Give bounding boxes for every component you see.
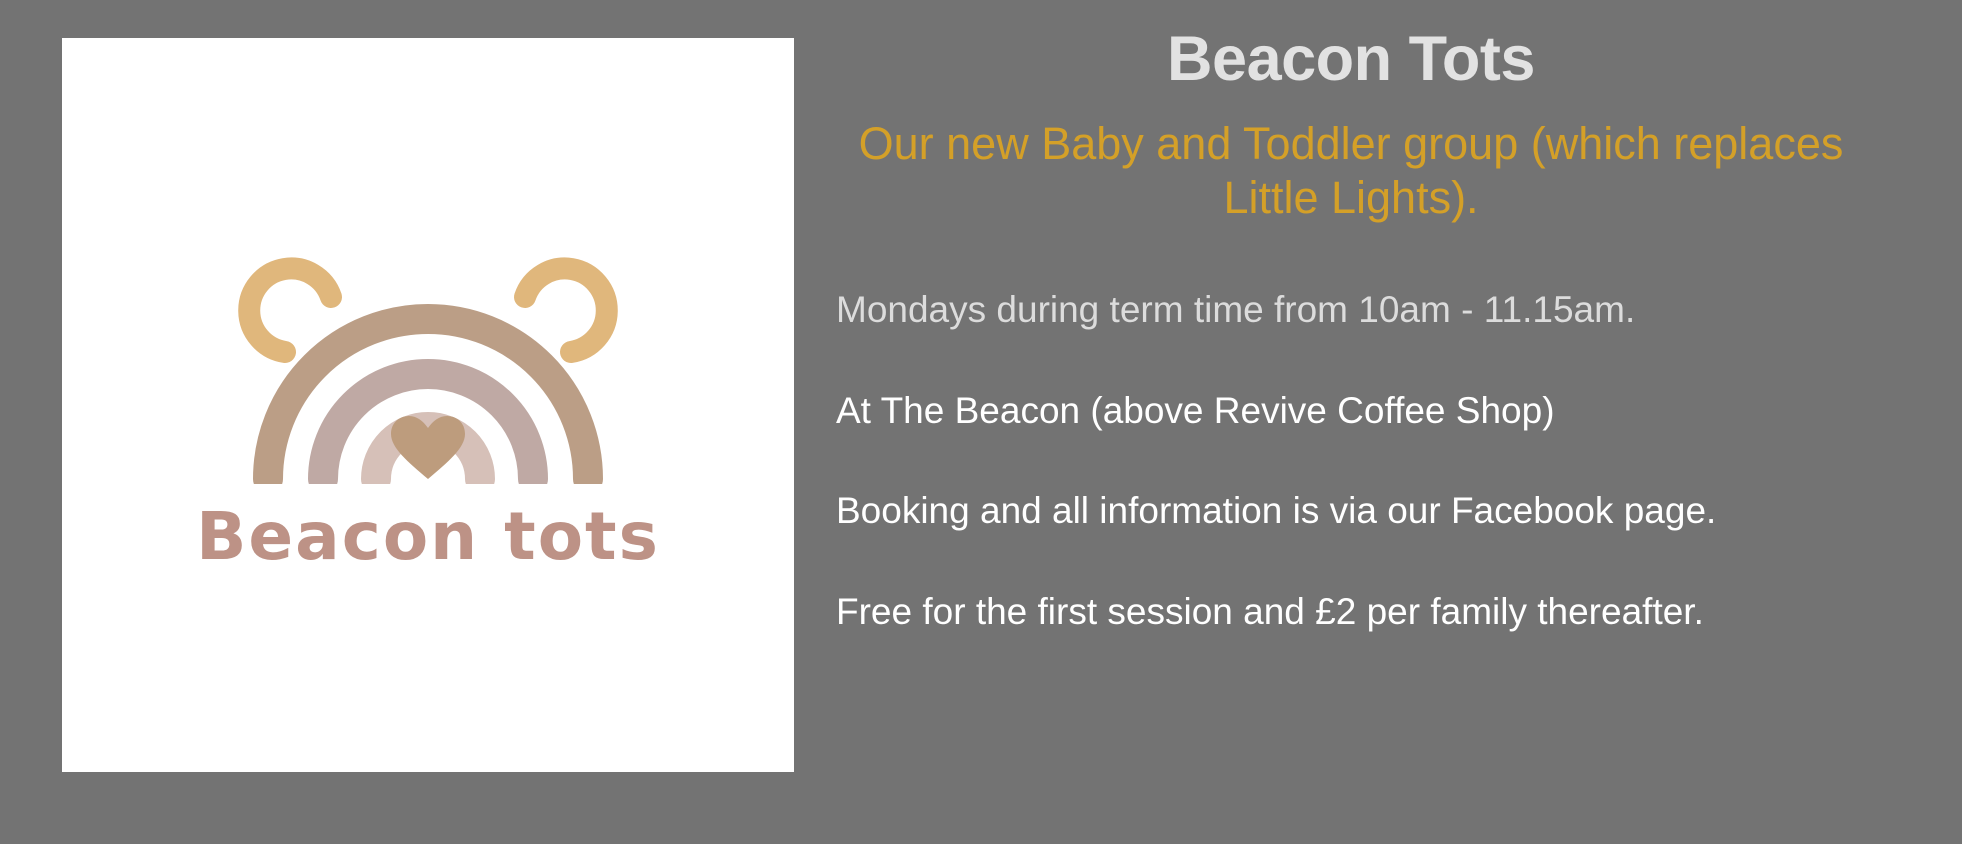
logo-wordmark: Beacon tots bbox=[62, 504, 794, 570]
logo-right-ear-icon bbox=[525, 268, 607, 352]
logo-card: Beacon tots bbox=[62, 38, 794, 772]
page-subtitle: Our new Baby and Toddler group (which re… bbox=[836, 117, 1866, 227]
poster-root: Beacon tots Beacon Tots Our new Baby and… bbox=[0, 0, 1962, 844]
detail-schedule: Mondays during term time from 10am - 11.… bbox=[836, 288, 1866, 332]
detail-booking: Booking and all information is via our F… bbox=[836, 489, 1866, 533]
page-title: Beacon Tots bbox=[836, 0, 1866, 95]
detail-pricing: Free for the first session and £2 per fa… bbox=[836, 590, 1866, 634]
detail-location: At The Beacon (above Revive Coffee Shop) bbox=[836, 389, 1866, 433]
details-list: Mondays during term time from 10am - 11.… bbox=[836, 288, 1866, 634]
beacon-tots-rainbow-logo-icon bbox=[213, 234, 643, 484]
logo-left-ear-icon bbox=[249, 268, 331, 352]
content-column: Beacon Tots Our new Baby and Toddler gro… bbox=[836, 0, 1866, 844]
